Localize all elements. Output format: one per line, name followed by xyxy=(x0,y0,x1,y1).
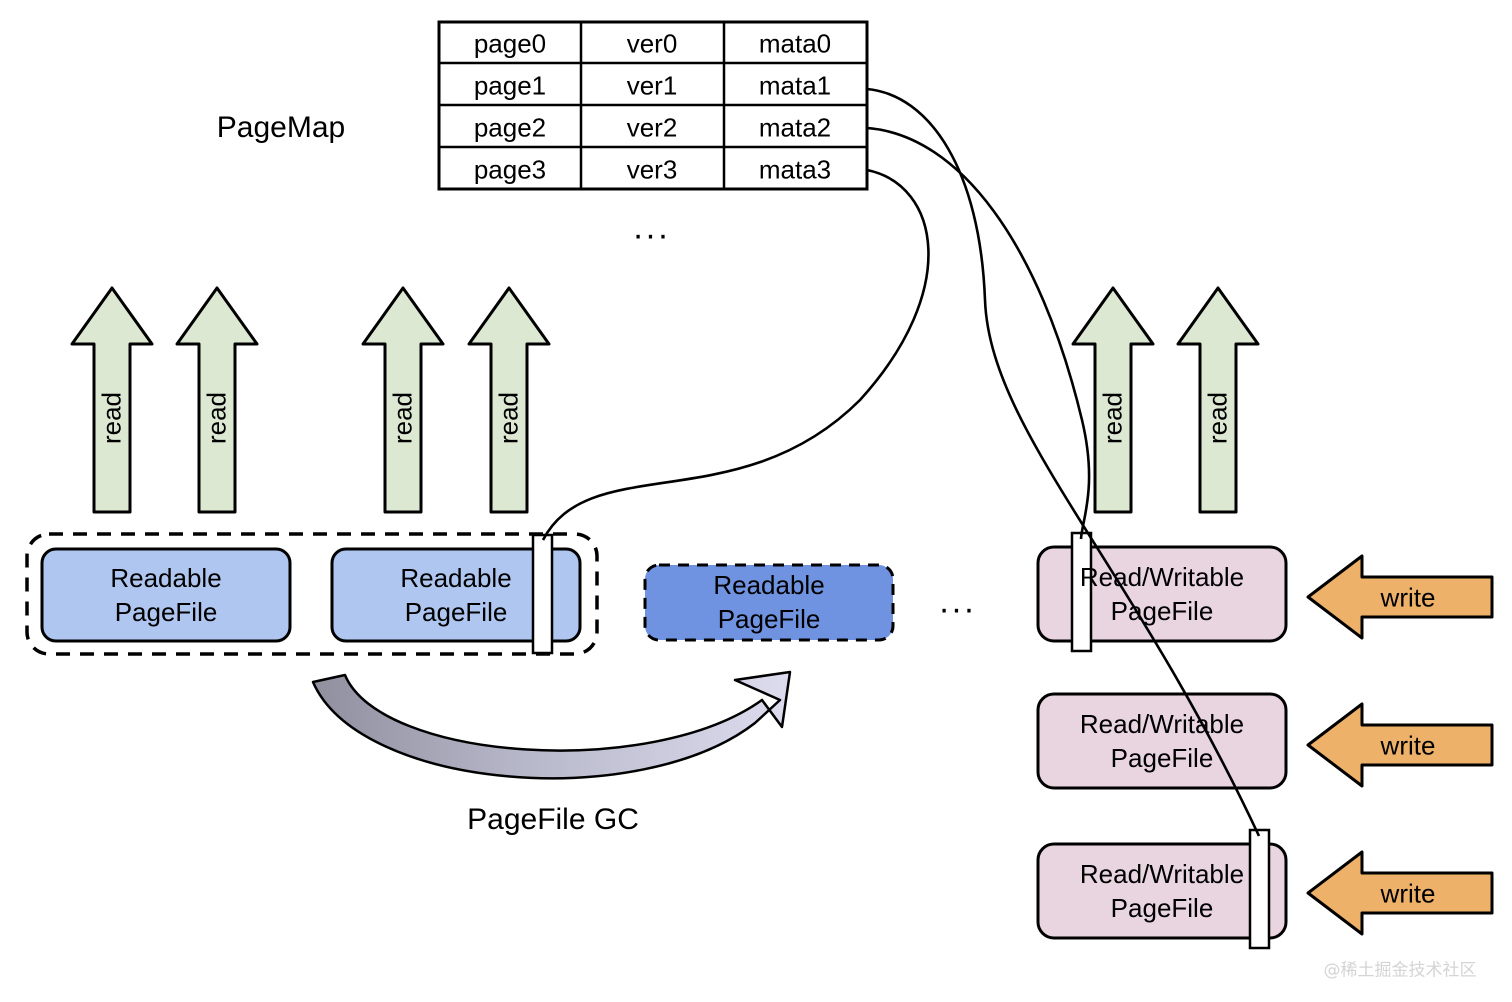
table-cell-ver: ver2 xyxy=(627,113,678,144)
readwritable-pagefile-label-line1: Read/Writable xyxy=(1080,560,1244,594)
readwritable-pagefile-label-line1: Read/Writable xyxy=(1080,857,1244,891)
table-cell-mata: mata2 xyxy=(759,113,831,144)
table-cell-ver: ver0 xyxy=(627,29,678,60)
write-arrow-label: write xyxy=(1381,731,1436,762)
read-arrow-label: read xyxy=(494,392,525,444)
watermark: @稀土掘金技术社区 xyxy=(1324,956,1477,981)
table-ellipsis: ... xyxy=(633,209,670,248)
pagemap-connectors-layer xyxy=(0,0,1512,1002)
readable-pagefile-label-line1: Readable xyxy=(713,568,824,602)
readwritable-pagefile-label-line1: Read/Writable xyxy=(1080,707,1244,741)
readwritable-pagefile-label-line2: PageFile xyxy=(1080,741,1244,775)
readwritable-pagefile-label: Read/Writable PageFile xyxy=(1080,707,1244,775)
read-arrow-label: read xyxy=(388,392,419,444)
readwritable-pagefile-label: Read/Writable PageFile xyxy=(1080,857,1244,925)
readable-pagefile-label-line2: PageFile xyxy=(713,602,824,636)
table-cell-mata: mata3 xyxy=(759,155,831,186)
pagemap-title: PageMap xyxy=(217,111,345,145)
readable-pagefile-label: Readable PageFile xyxy=(400,561,511,629)
connector-mata2 xyxy=(867,128,1089,539)
read-arrow-label: read xyxy=(1203,392,1234,444)
read-arrow-label: read xyxy=(202,392,233,444)
readwritable-pagefile-label-line2: PageFile xyxy=(1080,594,1244,628)
read-arrow-label: read xyxy=(97,392,128,444)
readable-pagefile-label-line2: PageFile xyxy=(110,595,221,629)
readwritable-pagefile-label-line2: PageFile xyxy=(1080,891,1244,925)
table-cell-page: page2 xyxy=(474,113,546,144)
table-cell-page: page1 xyxy=(474,71,546,102)
write-arrow-label: write xyxy=(1381,879,1436,910)
diagram-canvas: PageMap page0 ver0 mata0 page1 ver1 mata… xyxy=(0,0,1512,1002)
write-arrow-label: write xyxy=(1381,583,1436,614)
table-cell-ver: ver3 xyxy=(627,155,678,186)
readable-pagefile-label-line1: Readable xyxy=(110,561,221,595)
readable-pagefile-label: Readable PageFile xyxy=(713,568,824,636)
connector-mata3 xyxy=(543,170,928,540)
readable-pagefile-label-line2: PageFile xyxy=(400,595,511,629)
readwritable-pagefile-label: Read/Writable PageFile xyxy=(1080,560,1244,628)
readable-pagefile-label: Readable PageFile xyxy=(110,561,221,629)
pagefiles-ellipsis: ... xyxy=(939,583,976,622)
readable-pagefile-label-line1: Readable xyxy=(400,561,511,595)
table-cell-ver: ver1 xyxy=(627,71,678,102)
pagefile-gc-label: PageFile GC xyxy=(467,803,639,837)
table-cell-page: page0 xyxy=(474,29,546,60)
table-cell-page: page3 xyxy=(474,155,546,186)
read-arrow-label: read xyxy=(1098,392,1129,444)
table-cell-mata: mata1 xyxy=(759,71,831,102)
table-cell-mata: mata0 xyxy=(759,29,831,60)
